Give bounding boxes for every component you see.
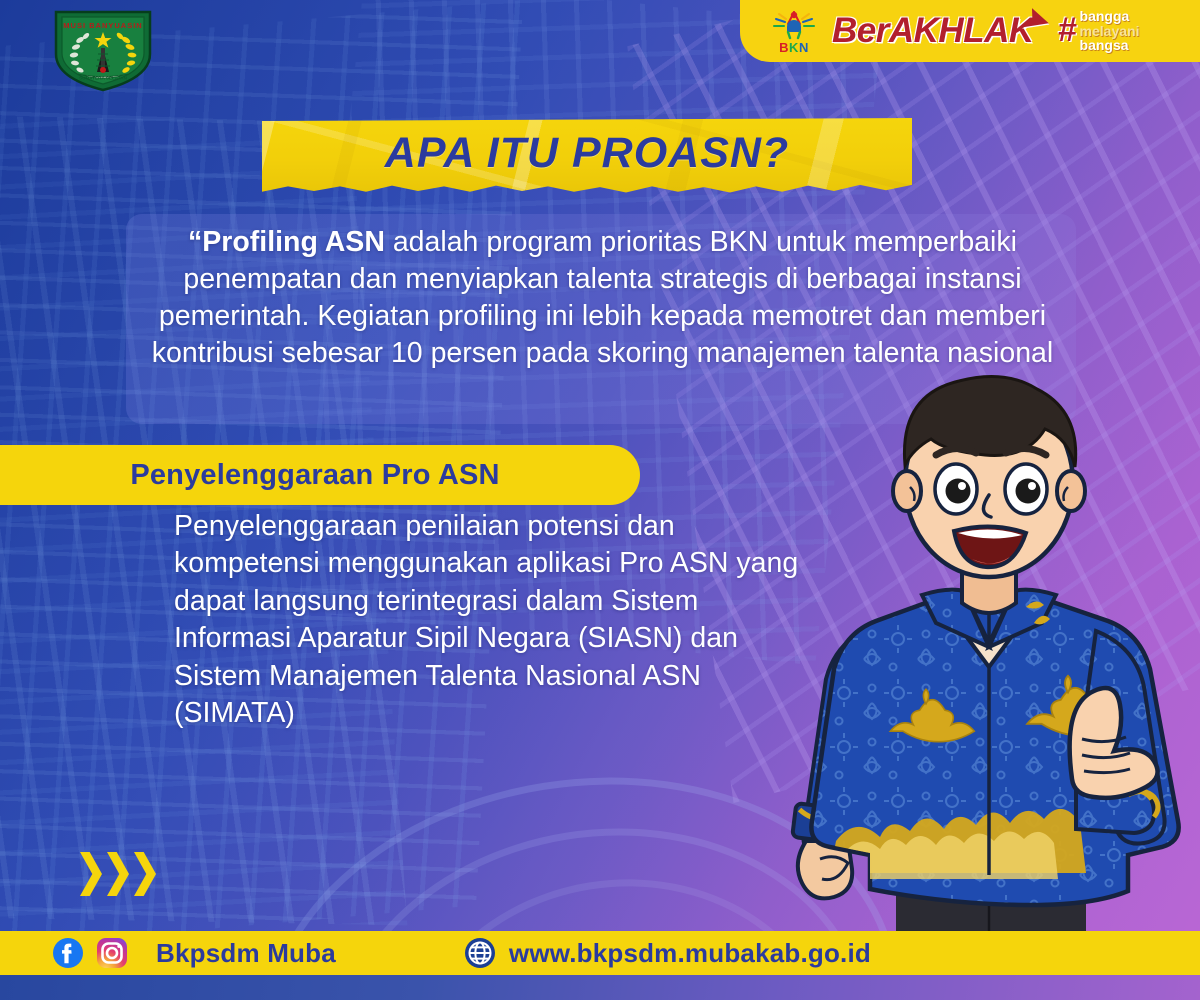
section-heading-pill: Penyelenggaraan Pro ASN [0, 445, 640, 505]
berakhlak-wordmark: BerAKHLAK ➤ [832, 11, 1034, 51]
quote-text: “Profiling ASN adalah program prioritas … [150, 224, 1055, 372]
svg-text:SUMATERA SELATAN: SUMATERA SELATAN [79, 76, 127, 81]
hashtag-icon: # [1058, 11, 1077, 50]
berakhlak-label: BerAKHLAK [832, 11, 1034, 50]
bangga-melayani-bangsa-lockup: # bangga melayani bangsa [1058, 9, 1140, 53]
website-group[interactable]: www.bkpsdm.mubakab.go.id [464, 937, 871, 969]
bkn-wordmark: BKN [779, 41, 809, 54]
page-title: APA ITU PROASN? [262, 118, 912, 194]
berakhlak-swoosh-icon: ➤ [1018, 0, 1050, 39]
website-label[interactable]: www.bkpsdm.mubakab.go.id [509, 938, 871, 969]
social-links-group[interactable]: Bkpsdm Muba [52, 937, 336, 969]
footer-bar: Bkpsdm Muba www.bkpsdm.mubakab.go.id [0, 931, 1200, 975]
bkn-logo-icon: BKN [766, 8, 822, 54]
musi-banyuasin-emblem-icon: MUSI BANYUASIN S [48, 8, 158, 93]
section-body-text: Penyelenggaraan penilaian potensi dan ko… [174, 508, 804, 733]
social-handle-label: Bkpsdm Muba [156, 938, 336, 969]
bangga-line-2: melayani [1080, 24, 1140, 39]
chevron-right-icon [80, 852, 102, 896]
quote-bold-lead: “Profiling ASN [188, 226, 385, 258]
bangga-line-1: bangga [1080, 9, 1140, 24]
chevron-right-icon [107, 852, 129, 896]
instagram-icon[interactable] [96, 937, 128, 969]
globe-icon[interactable] [464, 937, 496, 969]
bangga-line-3: bangsa [1080, 38, 1140, 53]
facebook-icon[interactable] [52, 937, 84, 969]
title-banner: APA ITU PROASN? [262, 118, 912, 194]
chevron-right-icon [134, 852, 156, 896]
footer-bottom-strip [0, 975, 1200, 1000]
infographic-poster: MUSI BANYUASIN S [0, 0, 1200, 1000]
svg-text:MUSI BANYUASIN: MUSI BANYUASIN [63, 21, 142, 30]
asn-mascot-illustration [776, 355, 1200, 975]
section-heading-label: Penyelenggaraan Pro ASN [130, 459, 499, 492]
berakhlak-banner: BKN BerAKHLAK ➤ # bangga melayani bangsa [740, 0, 1200, 62]
chevron-arrows-decoration [80, 852, 156, 896]
